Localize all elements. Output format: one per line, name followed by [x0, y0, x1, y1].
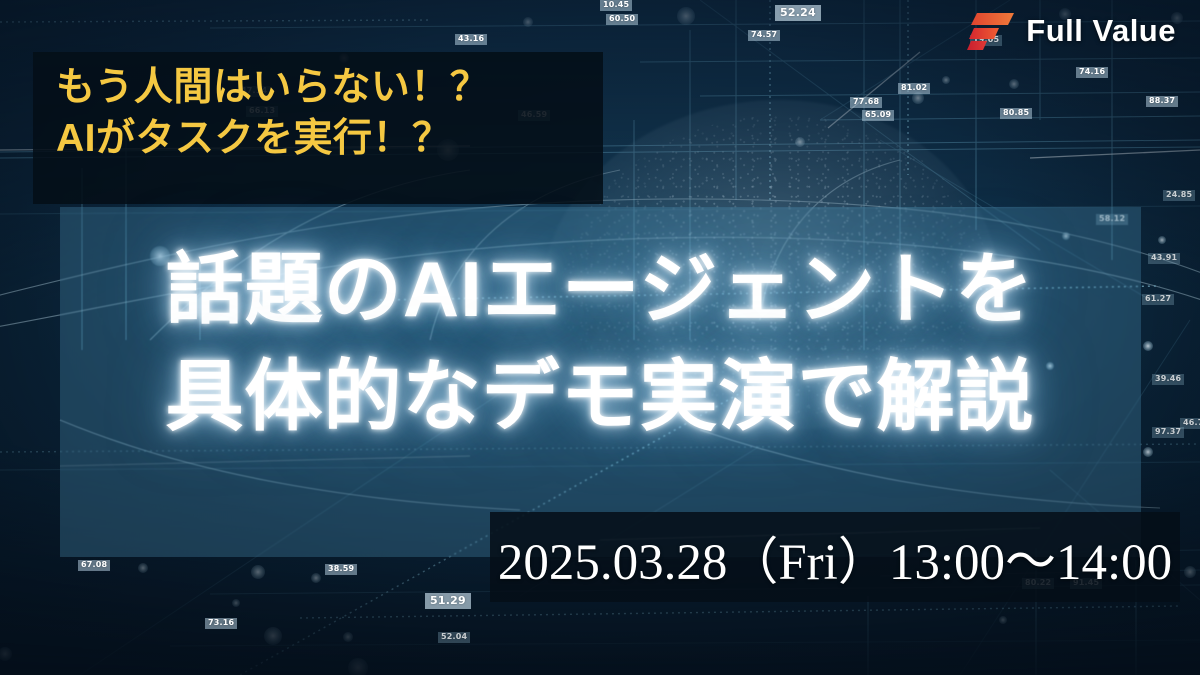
data-badge: 80.85 [1000, 108, 1032, 119]
kicker-text: もう人間はいらない！？ AIがタスクを実行！？ [56, 62, 596, 165]
data-badge: 74.16 [1076, 67, 1108, 78]
page-title: 話題のAIエージェントを 具体的なデモ実演で解説 [0, 236, 1200, 450]
data-badge: 24.85 [1163, 190, 1195, 201]
brand-name: Full Value [1026, 15, 1176, 46]
data-badge: 67.08 [78, 560, 110, 571]
webinar-promo-banner: 60.5010.4552.2474.5774.1688.3743.1647.14… [0, 0, 1200, 675]
data-badge: 38.59 [325, 564, 357, 575]
data-badge: 52.04 [438, 632, 470, 643]
data-badge: 10.45 [600, 0, 632, 11]
full-value-f-mark [967, 10, 1015, 50]
brand-logo[interactable]: Full Value [967, 10, 1176, 50]
event-datetime: 2025.03.28（Fri）13:00〜14:00 [490, 512, 1180, 602]
data-badge: 77.68 [850, 97, 882, 108]
data-badge: 88.37 [1146, 96, 1178, 107]
data-badge: 43.16 [455, 34, 487, 45]
data-badge: 51.29 [425, 593, 471, 609]
data-badge: 74.57 [748, 30, 780, 41]
data-badge: 52.24 [775, 5, 821, 21]
data-badge: 73.16 [205, 618, 237, 629]
data-badge: 65.09 [862, 110, 894, 121]
data-badge: 81.02 [898, 83, 930, 94]
data-badge: 60.50 [606, 14, 638, 25]
